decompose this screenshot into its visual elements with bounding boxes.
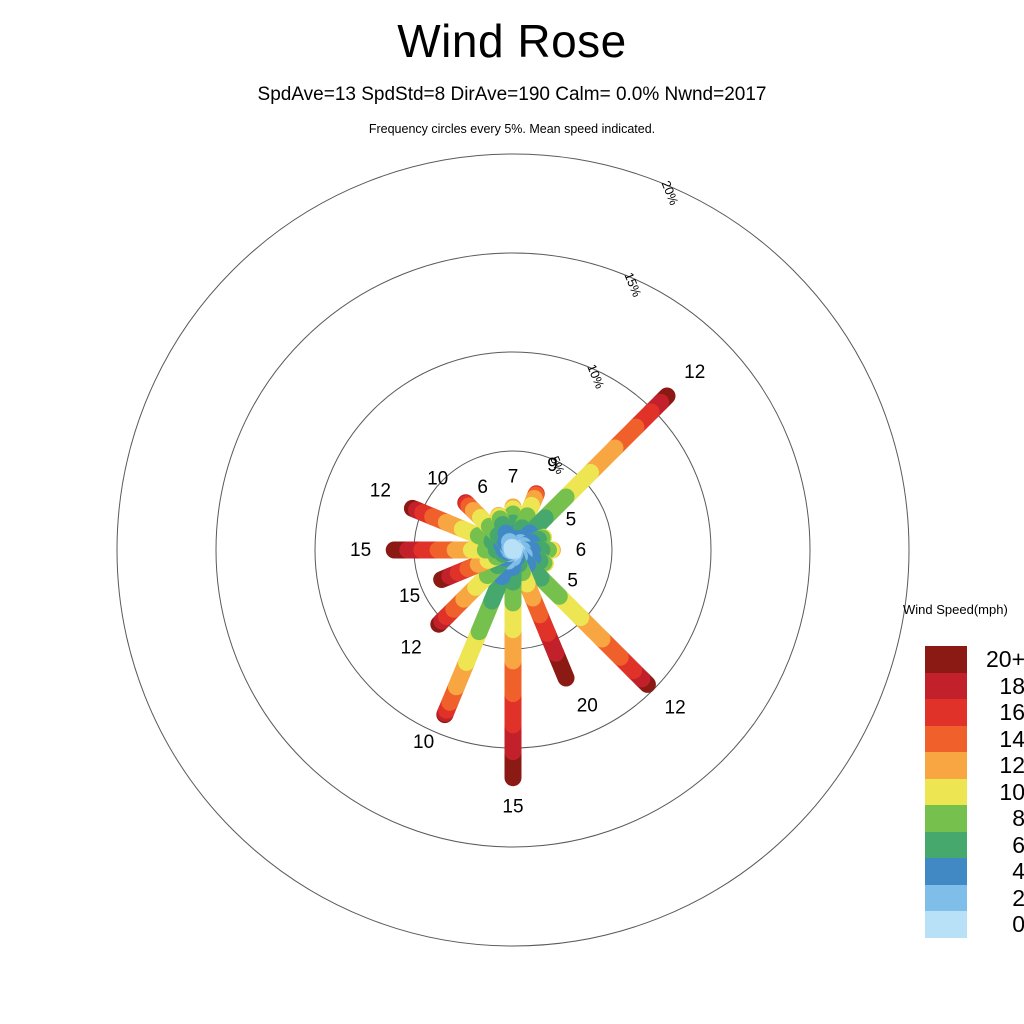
legend-label: 18 [967, 673, 1024, 700]
mean-speed-label: 5 [566, 509, 577, 530]
legend-row: 12 [925, 752, 1024, 779]
mean-speed-label: 5 [567, 570, 578, 591]
mean-speed-label: 15 [350, 540, 371, 561]
legend-label: 8 [967, 805, 1024, 832]
legend-row: 18 [925, 673, 1024, 700]
legend-swatch [925, 885, 967, 912]
ring-label: 10% [584, 362, 606, 390]
ring-label: 15% [621, 271, 643, 299]
legend-label: 16 [967, 699, 1024, 726]
wind-rose-figure: Wind Rose SpdAve=13 SpdStd=8 DirAve=190 … [0, 0, 1024, 1024]
ring-labels: 5%10%15%20% [547, 179, 681, 476]
mean-speed-label: 12 [401, 637, 422, 658]
ring-label: 20% [659, 179, 681, 207]
mean-speed-label: 7 [508, 466, 519, 487]
legend-label: 20+ [967, 646, 1024, 673]
direction-petals [394, 396, 667, 778]
legend-row: 10 [925, 779, 1024, 806]
legend-row: 20+ [925, 646, 1024, 673]
legend-row: 8 [925, 805, 1024, 832]
legend-swatch [925, 699, 967, 726]
legend-row: 6 [925, 832, 1024, 859]
legend-label: 4 [967, 858, 1024, 885]
petal-ne [513, 396, 667, 550]
mean-speed-label: 6 [477, 477, 488, 498]
mean-speed-label: 10 [413, 732, 434, 753]
petal-segment [512, 547, 513, 550]
mean-speed-label: 15 [502, 797, 523, 818]
legend-row: 14 [925, 726, 1024, 753]
legend-row: 0 [925, 911, 1024, 938]
mean-speed-label: 6 [576, 540, 587, 561]
mean-speed-label: 10 [427, 468, 448, 489]
legend-swatch [925, 805, 967, 832]
mean-speed-label: 12 [684, 362, 705, 383]
legend-swatch [925, 779, 967, 806]
legend-swatch [925, 858, 967, 885]
legend-title: Wind Speed(mph) [903, 602, 1008, 617]
legend-label: 6 [967, 832, 1024, 859]
mean-speed-label: 20 [577, 696, 598, 717]
legend-label: 10 [967, 779, 1024, 806]
legend-swatch [925, 646, 967, 673]
mean-speed-label: 12 [370, 481, 391, 502]
legend-swatch [925, 752, 967, 779]
mean-speed-label: 12 [665, 698, 686, 719]
speed-legend: 20+181614121086420 [925, 646, 1024, 938]
mean-speed-label: 15 [399, 586, 420, 607]
legend-row: 16 [925, 699, 1024, 726]
legend-label: 14 [967, 726, 1024, 753]
legend-label: 0 [967, 911, 1024, 938]
wind-rose-plot: 5%10%15%20% 79125651220151012151512106 [0, 0, 1024, 1024]
legend-swatch [925, 832, 967, 859]
mean-speed-label: 9 [547, 455, 558, 476]
legend-label: 12 [967, 752, 1024, 779]
legend-label: 2 [967, 885, 1024, 912]
legend-swatch [925, 673, 967, 700]
legend-row: 4 [925, 858, 1024, 885]
legend-swatch [925, 911, 967, 938]
legend-swatch [925, 726, 967, 753]
legend-row: 2 [925, 885, 1024, 912]
